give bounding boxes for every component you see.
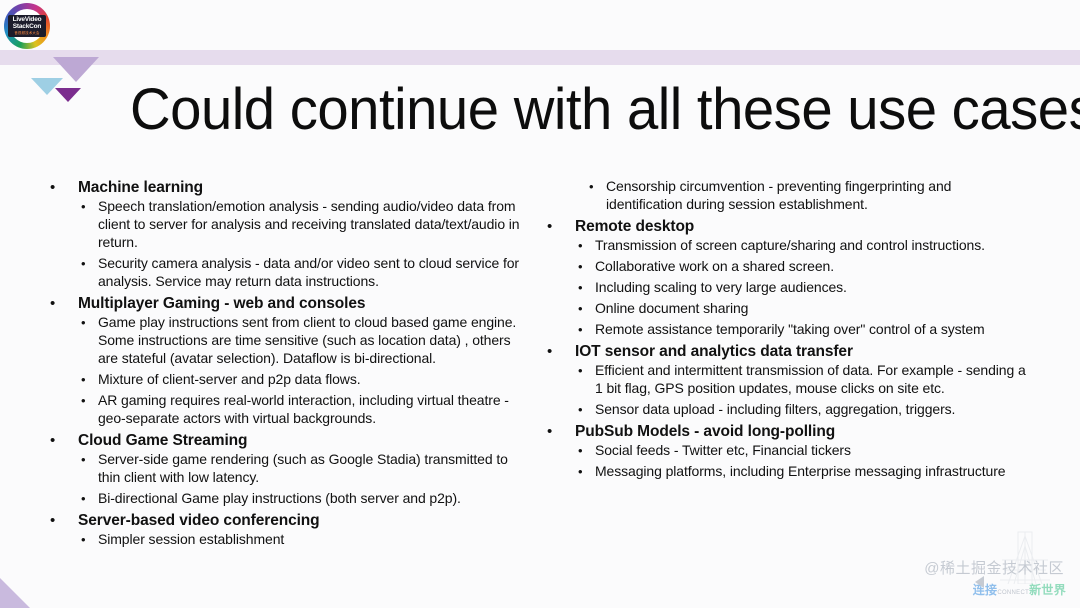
bullet-marker-icon: • [578,442,583,459]
livevideostackcon-logo: LiveVideo StackCon 音视频技术大会 [4,3,50,49]
bullet-marker-icon: • [578,300,583,317]
sub-bullet-text: Collaborative work on a shared screen. [595,258,834,274]
left-column: •Machine learning•Speech translation/emo… [44,178,524,552]
watermark-tagline-en: CONNECT [997,590,1029,596]
bullet-marker-icon: • [50,294,55,313]
bullet-marker-icon: • [81,314,86,331]
sub-bullet-item: •Remote assistance temporarily "taking o… [575,321,1031,339]
bullet-marker-icon: • [578,401,583,418]
sub-bullet-text: Security camera analysis - data and/or v… [98,255,519,289]
slide: LiveVideo StackCon 音视频技术大会 Could continu… [0,0,1080,608]
sub-bullet-item: •Collaborative work on a shared screen. [575,258,1031,276]
sub-bullet-item: •Game play instructions sent from client… [78,314,524,368]
sub-bullet-list: •Speech translation/emotion analysis - s… [78,198,524,291]
left-bullet-list: •Machine learning•Speech translation/emo… [44,178,524,549]
bullet-marker-icon: • [578,321,583,338]
bullet-marker-icon: • [547,422,552,441]
sub-bullet-text: Speech translation/emotion analysis - se… [98,198,520,250]
sub-bullet-item: •Transmission of screen capture/sharing … [575,237,1031,255]
sub-bullet-text: Sensor data upload - including filters, … [595,401,955,417]
right-orphan-sub-list: •Censorship circumvention - preventing f… [541,178,1031,214]
sub-bullet-item: •Server-side game rendering (such as Goo… [78,451,524,487]
sub-bullet-text: Social feeds - Twitter etc, Financial ti… [595,442,851,458]
sub-bullet-list: •Social feeds - Twitter etc, Financial t… [575,442,1031,481]
sub-bullet-item: •Security camera analysis - data and/or … [78,255,524,291]
sub-bullet-text: Efficient and intermittent transmission … [595,362,1026,396]
bullet-marker-icon: • [578,279,583,296]
sub-bullet-text: Remote assistance temporarily "taking ov… [595,321,985,337]
sub-bullet-text: Mixture of client-server and p2p data fl… [98,371,361,387]
bullet-marker-icon: • [50,431,55,450]
top-bullet-heading: Machine learning [78,178,524,197]
bullet-marker-icon: • [547,342,552,361]
sub-bullet-list: •Simpler session establishment [78,531,524,549]
top-bullet-item: •Server-based video conferencing•Simpler… [44,511,524,549]
sub-bullet-text: Bi-directional Game play instructions (b… [98,490,461,506]
top-bullet-item: •IOT sensor and analytics data transfer•… [541,342,1031,419]
logo-line-3: 音视频技术大会 [14,32,39,35]
sub-bullet-item: •Mixture of client-server and p2p data f… [78,371,524,389]
bullet-marker-icon: • [578,237,583,254]
sub-bullet-item: •Social feeds - Twitter etc, Financial t… [575,442,1031,460]
sub-bullet-item: •Simpler session establishment [78,531,524,549]
sub-bullet-list: •Server-side game rendering (such as Goo… [78,451,524,508]
watermark-tagline-cn2: 新世界 [1029,583,1066,597]
slide-title: Could continue with all these use cases … [130,76,1080,143]
sub-bullet-item: •AR gaming requires real-world interacti… [78,392,524,428]
watermark-handle: @稀土掘金技术社区 [924,557,1064,578]
bullet-marker-icon: • [50,178,55,197]
bullet-marker-icon: • [589,178,594,195]
top-bullet-heading: Server-based video conferencing [78,511,524,530]
watermark-tagline: 连接CONNECT新世界 [973,581,1066,598]
sub-bullet-text: Transmission of screen capture/sharing a… [595,237,985,253]
decorative-triangle-dark [55,88,81,102]
top-bullet-heading: Cloud Game Streaming [78,431,524,450]
bullet-marker-icon: • [578,463,583,480]
sub-bullet-text: Messaging platforms, including Enterpris… [595,463,1005,479]
logo-line-2: StackCon [13,24,41,31]
bullet-marker-icon: • [50,511,55,530]
bullet-marker-icon: • [578,258,583,275]
top-bullet-heading: Remote desktop [575,217,1031,236]
sub-bullet-text: Game play instructions sent from client … [98,314,516,366]
header-band [0,50,1080,65]
sub-bullet-list: •Efficient and intermittent transmission… [575,362,1031,419]
sub-bullet-item: •Online document sharing [575,300,1031,318]
bullet-marker-icon: • [81,371,86,388]
slide-body: •Machine learning•Speech translation/emo… [0,178,1080,558]
top-bullet-heading: IOT sensor and analytics data transfer [575,342,1031,361]
sub-bullet-text: Censorship circumvention - preventing fi… [606,178,951,212]
bullet-marker-icon: • [81,490,86,507]
sub-bullet-item: •Censorship circumvention - preventing f… [586,178,1031,214]
sub-bullet-list: •Transmission of screen capture/sharing … [575,237,1031,339]
top-bullet-item: •Cloud Game Streaming•Server-side game r… [44,431,524,508]
top-bullet-item: •Machine learning•Speech translation/emo… [44,178,524,291]
bullet-marker-icon: • [81,198,86,215]
bullet-marker-icon: • [81,255,86,272]
arrow-icon [975,576,984,588]
sub-bullet-item: •Sensor data upload - including filters,… [575,401,1031,419]
top-bullet-item: •PubSub Models - avoid long-polling•Soci… [541,422,1031,481]
sub-bullet-text: Server-side game rendering (such as Goog… [98,451,508,485]
bullet-marker-icon: • [81,531,86,548]
top-bullet-heading: Multiplayer Gaming - web and consoles [78,294,524,313]
sub-bullet-text: Online document sharing [595,300,748,316]
sub-bullet-item: •Speech translation/emotion analysis - s… [78,198,524,252]
decorative-corner-triangle [0,578,30,608]
watermark: @稀土掘金技术社区 连接CONNECT新世界 [885,534,1070,604]
right-bullet-list: •Remote desktop•Transmission of screen c… [541,217,1031,481]
bullet-marker-icon: • [578,362,583,379]
bullet-marker-icon: • [81,451,86,468]
bullet-marker-icon: • [547,217,552,236]
sub-bullet-item: •Efficient and intermittent transmission… [575,362,1031,398]
top-bullet-item: •Multiplayer Gaming - web and consoles•G… [44,294,524,428]
sub-bullet-item: •Including scaling to very large audienc… [575,279,1031,297]
sub-bullet-text: Simpler session establishment [98,531,284,547]
right-column: •Censorship circumvention - preventing f… [541,178,1031,484]
sub-bullet-item: •Bi-directional Game play instructions (… [78,490,524,508]
top-bullet-item: •Remote desktop•Transmission of screen c… [541,217,1031,339]
sub-bullet-text: AR gaming requires real-world interactio… [98,392,509,426]
top-bullet-heading: PubSub Models - avoid long-polling [575,422,1031,441]
sub-bullet-item: •Messaging platforms, including Enterpri… [575,463,1031,481]
logo-wordmark: LiveVideo StackCon 音视频技术大会 [8,15,46,37]
sub-bullet-list: •Game play instructions sent from client… [78,314,524,428]
sub-bullet-text: Including scaling to very large audience… [595,279,847,295]
bullet-marker-icon: • [81,392,86,409]
